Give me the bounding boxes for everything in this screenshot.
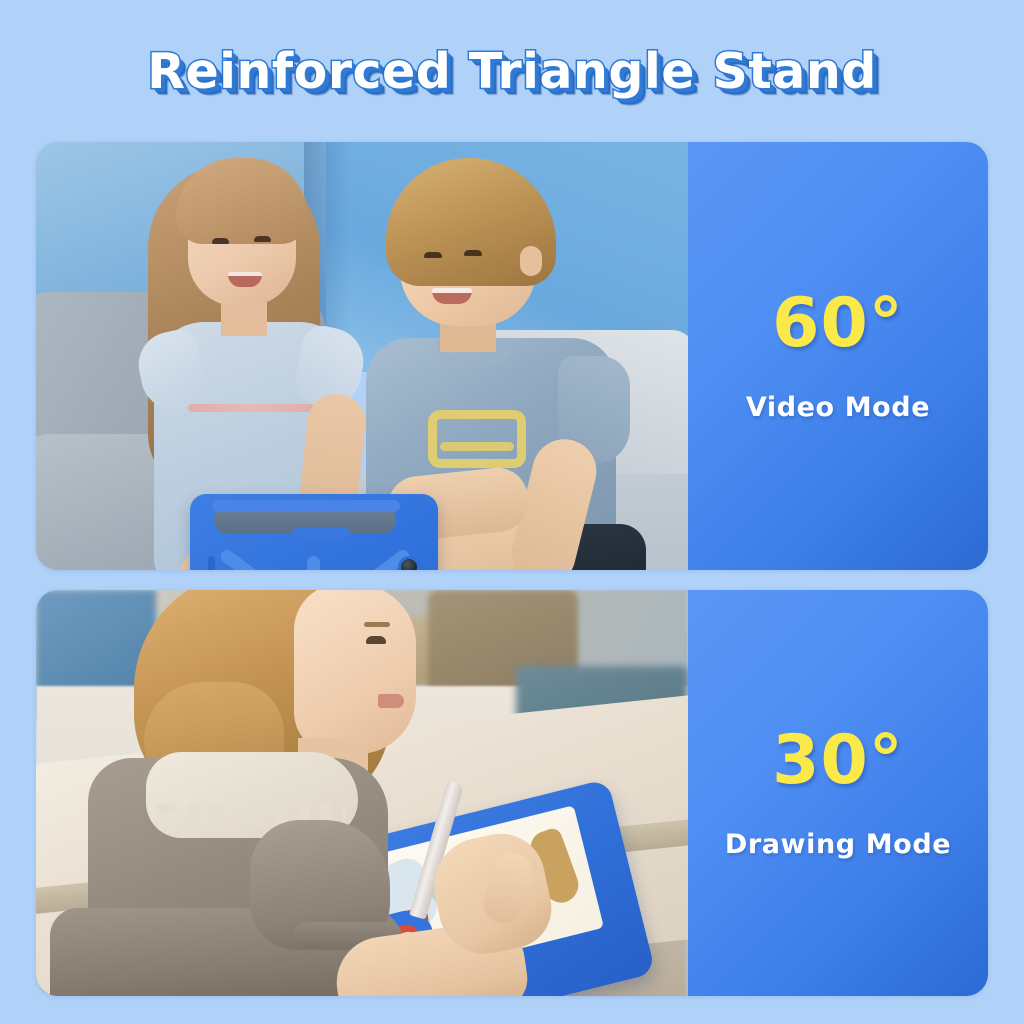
button-cutout-left [208, 556, 215, 570]
boy-shirt-graphic [428, 410, 526, 468]
tablet-case-handle-foot [292, 528, 350, 538]
boy-ear [520, 246, 542, 276]
girl-dress-trim [188, 404, 316, 412]
girl-eye-left [212, 238, 229, 244]
triangle-rib-center [307, 556, 320, 570]
boy-smile [432, 288, 472, 304]
page-title-bar: Reinforced Triangle Stand [0, 36, 1024, 106]
feature-panel-drawing-mode: 30° Drawing Mode [36, 590, 988, 996]
mode-label-video: Video Mode [746, 392, 930, 423]
angle-value-30: 30° [772, 727, 904, 795]
child-lips [378, 694, 404, 708]
child-eyebrow [364, 622, 390, 627]
boy-shirt-graphic-bar [440, 442, 514, 451]
child-face-profile [294, 590, 416, 754]
photo-video-mode [36, 142, 688, 570]
boy-eye-left [424, 252, 442, 258]
feature-panel-video-mode: 60° Video Mode [36, 142, 988, 570]
mode-label-drawing: Drawing Mode [725, 829, 951, 860]
boy-eye-right [464, 250, 482, 256]
angle-value-60: 60° [772, 290, 904, 358]
tablet-case-handle-bar [212, 500, 400, 512]
label-panel-video-mode: 60° Video Mode [688, 142, 988, 570]
child-eye [366, 636, 386, 644]
page-title: Reinforced Triangle Stand [147, 43, 877, 100]
girl-eye-right [254, 236, 271, 242]
photo-drawing-mode [36, 590, 688, 996]
label-panel-drawing-mode: 30° Drawing Mode [688, 590, 988, 996]
